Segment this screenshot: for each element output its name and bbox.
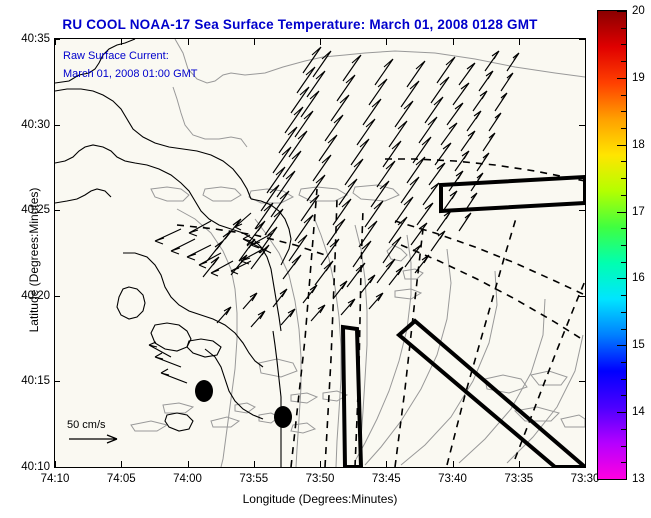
y-tick-mark <box>579 381 585 382</box>
y-tick-label: 40:10 <box>2 461 50 473</box>
colorbar-minor-tick <box>621 278 627 279</box>
colorbar-minor-tick <box>621 111 627 112</box>
x-tick-mark <box>519 461 520 467</box>
x-tick-mark <box>55 461 56 467</box>
colorbar-minor-tick <box>621 429 627 430</box>
x-tick-label: 73:45 <box>372 473 401 485</box>
colorbar-minor-tick <box>621 212 627 213</box>
colorbar-minor-tick <box>621 61 627 62</box>
colorbar-tick-label: 20 <box>632 5 645 17</box>
colorbar-tick-label: 15 <box>632 339 645 351</box>
colorbar-minor-tick <box>621 312 627 313</box>
y-tick-label: 40:15 <box>2 375 50 387</box>
colorbar-minor-tick <box>621 128 627 129</box>
colorbar-tick-label: 16 <box>632 272 645 284</box>
x-tick-mark <box>320 39 321 45</box>
y-tick-mark <box>54 296 60 297</box>
annotation-line-2: March 01, 2008 01:00 GMT <box>63 68 198 80</box>
x-tick-mark <box>585 39 586 45</box>
colorbar-minor-tick <box>621 44 627 45</box>
colorbar-minor-tick <box>621 178 627 179</box>
y-tick-mark <box>54 381 60 382</box>
y-tick-mark <box>54 210 60 211</box>
colorbar-minor-tick <box>621 262 627 263</box>
y-tick-mark <box>579 210 585 211</box>
y-axis-label: Latitude (Degrees:Minutes) <box>27 130 41 390</box>
colorbar-tick-label: 19 <box>632 72 645 84</box>
colorbar-minor-tick <box>621 362 627 363</box>
colorbar-minor-tick <box>621 395 627 396</box>
page-title: RU COOL NOAA-17 Sea Surface Temperature:… <box>0 17 600 32</box>
y-tick-mark <box>579 467 585 468</box>
x-tick-label: 73:35 <box>504 473 533 485</box>
colorbar-tick-label: 14 <box>632 406 645 418</box>
map-graphics <box>55 39 585 467</box>
x-tick-label: 73:40 <box>438 473 467 485</box>
x-tick-label: 73:30 <box>571 473 600 485</box>
x-tick-mark <box>519 39 520 45</box>
x-tick-label: 74:10 <box>41 473 70 485</box>
scalebar-arrow <box>69 435 117 443</box>
colorbar-tick-label: 18 <box>632 139 645 151</box>
y-tick-mark <box>579 125 585 126</box>
y-tick-mark <box>579 296 585 297</box>
colorbar-minor-tick <box>621 462 627 463</box>
colorbar-minor-tick <box>621 329 627 330</box>
x-tick-label: 73:50 <box>306 473 335 485</box>
colorbar-minor-tick <box>621 295 627 296</box>
colorbar-minor-tick <box>621 78 627 79</box>
y-tick-label: 40:30 <box>2 119 50 131</box>
annotation-line-1: Raw Surface Current: <box>63 50 169 62</box>
colorbar-minor-tick <box>621 446 627 447</box>
radial-coverage-sectors <box>343 177 585 467</box>
colorbar-minor-tick <box>621 145 627 146</box>
x-tick-mark <box>188 461 189 467</box>
x-tick-mark <box>585 461 586 467</box>
colorbar-minor-tick <box>621 28 627 29</box>
x-tick-mark <box>386 39 387 45</box>
colorbar-minor-tick <box>621 379 627 380</box>
x-tick-mark <box>453 39 454 45</box>
colorbar-minor-tick <box>621 479 627 480</box>
colorbar-minor-tick <box>621 195 627 196</box>
x-tick-mark <box>453 461 454 467</box>
x-tick-mark <box>55 39 56 45</box>
x-tick-mark <box>188 39 189 45</box>
colorbar-minor-tick <box>621 161 627 162</box>
colorbar-minor-tick <box>621 345 627 346</box>
x-tick-mark <box>386 461 387 467</box>
y-tick-mark <box>54 467 60 468</box>
colorbar-minor-tick <box>621 245 627 246</box>
y-tick-label: 40:20 <box>2 290 50 302</box>
colorbar-tick-label: 13 <box>632 473 645 485</box>
y-tick-label: 40:25 <box>2 204 50 216</box>
colorbar-minor-tick <box>621 412 627 413</box>
figure-root: RU COOL NOAA-17 Sea Surface Temperature:… <box>0 0 651 518</box>
colorbar-tick-label: 17 <box>632 206 645 218</box>
x-tick-label: 74:00 <box>173 473 202 485</box>
scalebar-label: 50 cm/s <box>67 419 106 431</box>
colorbar-minor-tick <box>621 11 627 12</box>
map-plot-area: Raw Surface Current: March 01, 2008 01:0… <box>54 38 586 468</box>
x-tick-mark <box>254 461 255 467</box>
colorbar-minor-tick <box>621 95 627 96</box>
y-tick-label: 40:35 <box>2 33 50 45</box>
x-tick-label: 74:05 <box>107 473 136 485</box>
x-axis-label: Longitude (Degrees:Minutes) <box>54 492 586 506</box>
x-tick-mark <box>254 39 255 45</box>
colorbar-minor-tick <box>621 228 627 229</box>
x-tick-label: 73:55 <box>239 473 268 485</box>
y-tick-mark <box>54 125 60 126</box>
x-tick-mark <box>320 461 321 467</box>
x-tick-mark <box>121 39 122 45</box>
x-tick-mark <box>121 461 122 467</box>
